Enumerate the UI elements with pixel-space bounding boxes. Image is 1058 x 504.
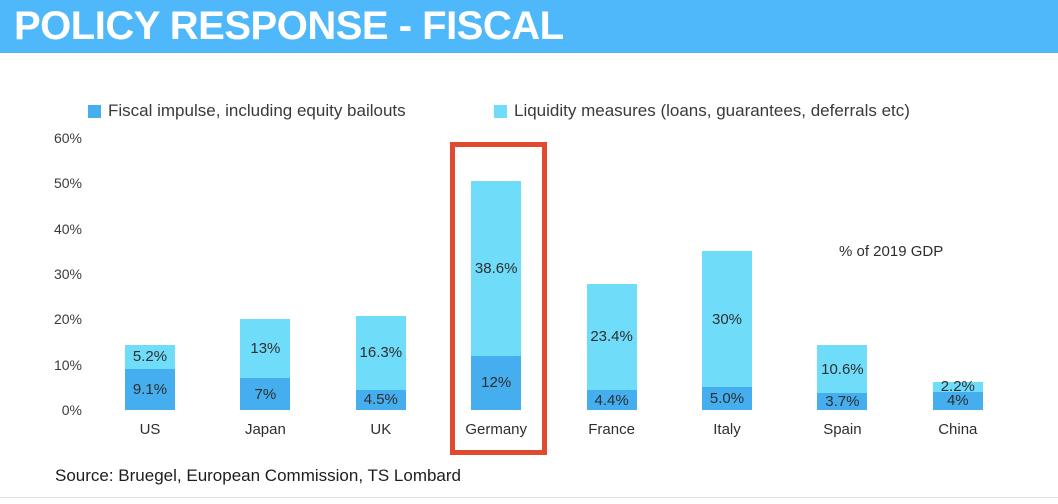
y-axis-tick: 30% [22,266,82,282]
bar-segment-label-liquidity: 5.2% [133,348,167,365]
bar-segment-fiscal[interactable]: 4.5% [356,390,406,410]
bar-segment-label-fiscal: 3.7% [825,393,859,410]
y-axis-tick: 10% [22,357,82,373]
bar-segment-label-liquidity: 10.6% [821,361,864,378]
bar-segment-fiscal[interactable]: 7% [240,378,290,410]
bar-segment-liquidity[interactable]: 16.3% [356,316,406,390]
bar-segment-fiscal[interactable]: 4.4% [587,390,637,410]
bar-segment-liquidity[interactable]: 5.2% [125,345,175,369]
source-note: Source: Bruegel, European Commission, TS… [55,466,461,486]
y-axis-tick: 40% [22,221,82,237]
bar-segment-liquidity[interactable]: 2.2% [933,382,983,392]
bar-segment-fiscal[interactable]: 9.1% [125,369,175,410]
y-axis-tick: 60% [22,130,82,146]
bar-segment-label-fiscal: 4.4% [594,392,628,409]
bar-segment-label-fiscal: 4% [947,392,969,409]
y-axis-tick: 50% [22,175,82,191]
bar-segment-fiscal[interactable]: 4% [933,392,983,410]
bar-segment-label-fiscal: 9.1% [133,381,167,398]
bar-segment-label-liquidity: 16.3% [360,344,403,361]
highlight-box-germany [450,142,547,455]
gdp-note-label: % of 2019 GDP [839,243,943,260]
x-axis-category-label: China [888,421,1028,438]
bar-segment-fiscal[interactable]: 3.7% [817,393,867,410]
bar-segment-label-fiscal: 4.5% [364,391,398,408]
bar-segment-label-liquidity: 13% [250,340,280,357]
bar-segment-fiscal[interactable]: 5.0% [702,387,752,410]
bar-segment-liquidity[interactable]: 13% [240,319,290,378]
footer-divider [0,497,1058,498]
bar-segment-label-liquidity: 30% [712,311,742,328]
bar-segment-liquidity[interactable]: 23.4% [587,284,637,390]
bar-segment-liquidity[interactable]: 10.6% [817,345,867,393]
bar-segment-label-fiscal: 7% [255,386,277,403]
bar-segment-liquidity[interactable]: 30% [702,251,752,387]
y-axis-tick: 0% [22,402,82,418]
bar-segment-label-liquidity: 23.4% [590,328,633,345]
bar-segment-label-fiscal: 5.0% [710,390,744,407]
y-axis-tick: 20% [22,311,82,327]
slide-canvas: POLICY RESPONSE - FISCAL Fiscal impulse,… [0,0,1058,504]
